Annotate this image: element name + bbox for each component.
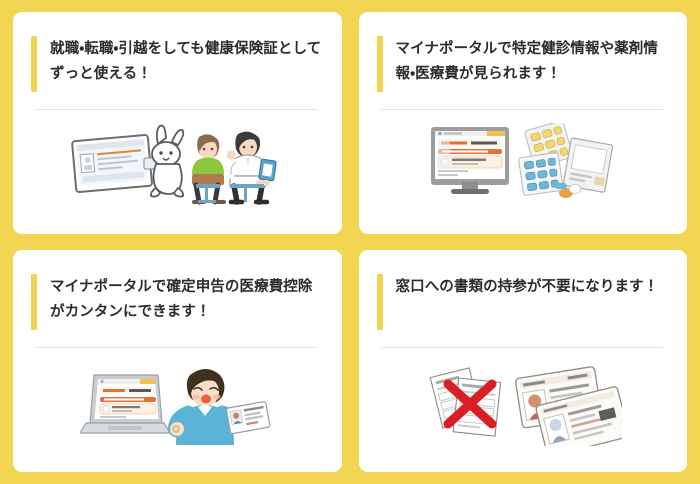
desktop-monitor-and-medicine-illustration [377,110,668,224]
card-title: マイナポータルで確定申告の医療費控除がカンタンにできます！ [50,274,322,330]
seated-woman-green-top [192,134,224,203]
benefit-card-health-insurance-certificate[interactable]: 就職・転職・引越をしても健康保険証としてずっと使える！ [13,12,342,234]
card-title: マイナポータルで特定健診情報や薬剤情報・医療費が見られます！ [396,36,668,92]
benefits-card-grid: 就職・転職・引越をしても健康保険証としてずっと使える！ [0,0,700,484]
tablet-rabbit-patient-doctor-illustration [31,110,322,224]
desktop-monitor-showing-portal [431,127,509,194]
card-title: 就職・転職・引越をしても健康保険証としてずっと使える！ [50,36,322,92]
benefit-card-myna-portal-health-checkup-info[interactable]: マイナポータルで特定健診情報や薬剤情報・医療費が見られます！ [359,12,688,234]
card-heading: マイナポータルで特定健診情報や薬剤情報・医療費が見られます！ [377,36,668,92]
card-heading: 就職・転職・引越をしても健康保険証としてずっと使える！ [31,36,322,92]
medicine-bag [563,138,613,193]
accent-bar [31,274,37,330]
accent-bar [377,36,383,92]
rabbit-mascot [151,126,183,197]
benefit-card-myna-portal-tax-deduction[interactable]: マイナポータルで確定申告の医療費控除がカンタンにできます！ [13,250,342,472]
accent-bar [31,36,37,92]
card-heading: マイナポータルで確定申告の医療費控除がカンタンにできます！ [31,274,322,330]
my-number-card-in-hand [226,401,270,434]
doctor-white-coat-with-clipboard [227,132,277,202]
accent-bar [377,274,383,330]
tablet-screen [72,135,164,192]
pill-blister-pack-blue [518,152,563,195]
benefit-card-no-documents-at-counter[interactable]: 窓口への書類の持参が不要になります！ [359,250,688,472]
card-title: 窓口への書類の持参が不要になります！ [396,274,659,330]
card-heading: 窓口への書類の持参が不要になります！ [377,274,668,330]
laptop-and-man-holding-card-illustration [31,348,322,462]
laptop-showing-portal [80,375,170,433]
documents-crossed-out-and-id-cards-illustration [377,348,668,462]
